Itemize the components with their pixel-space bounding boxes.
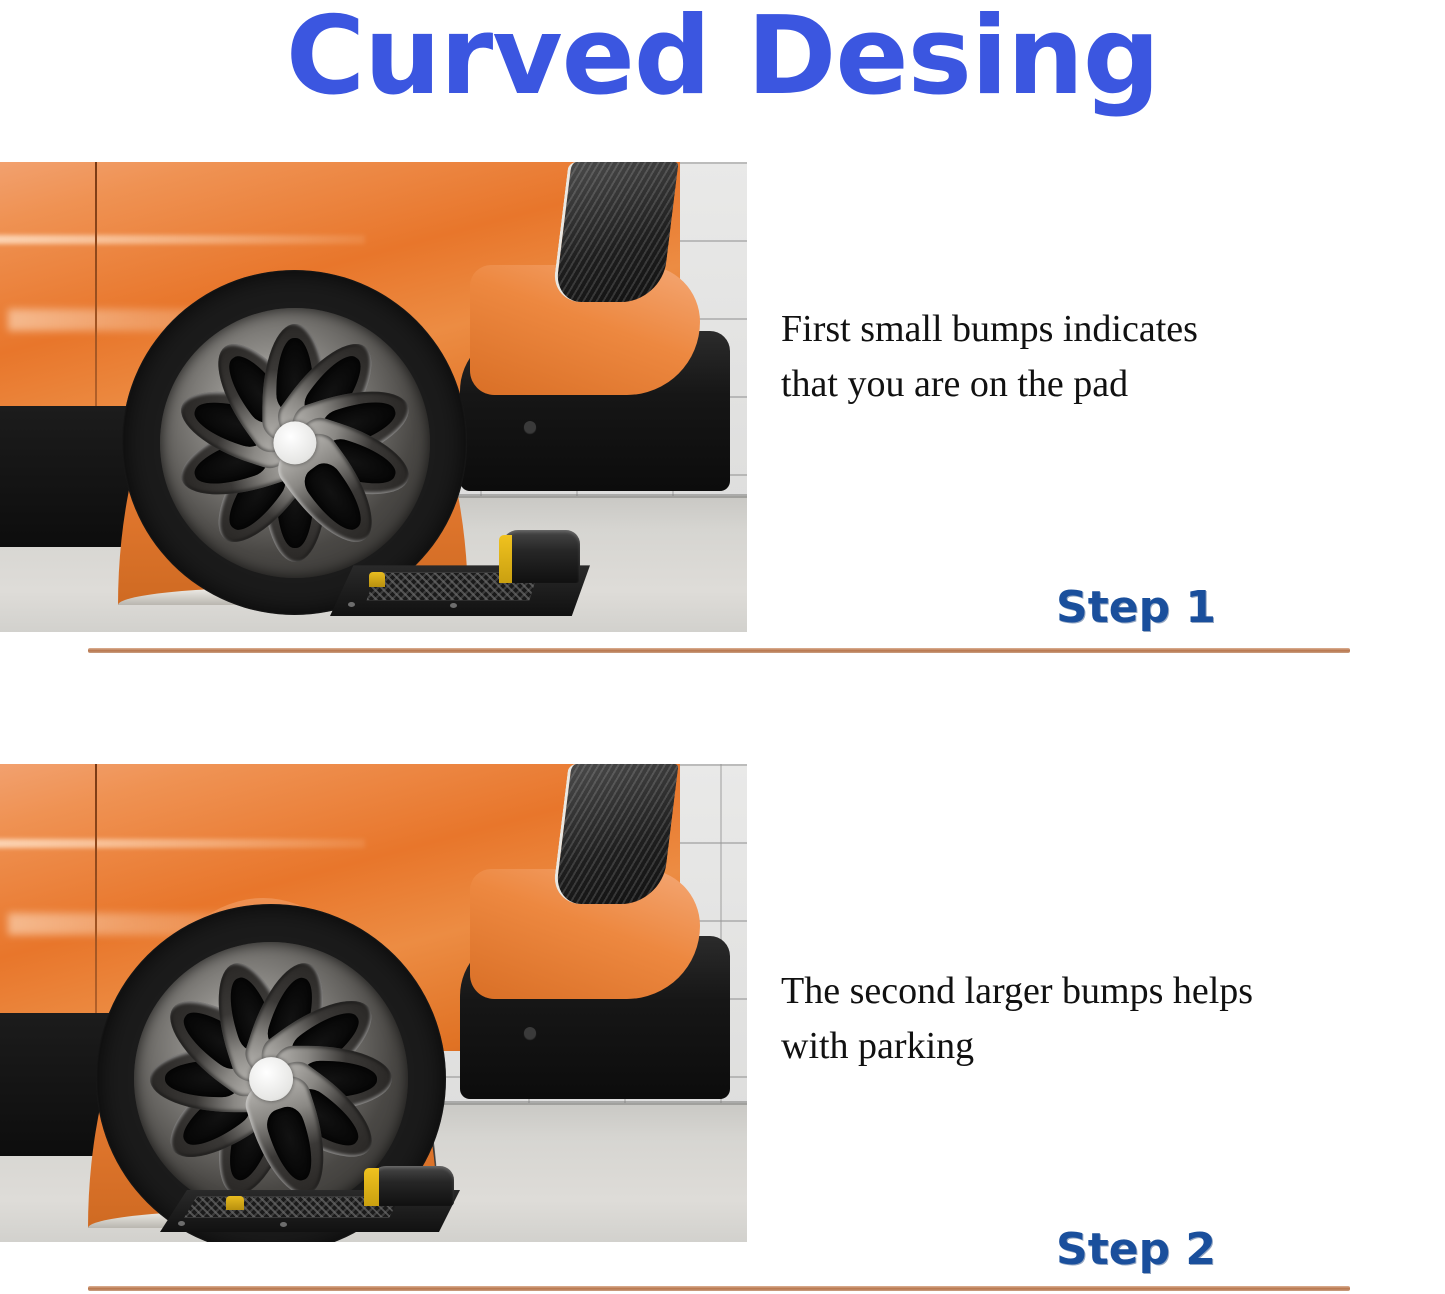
step-2-description: The second larger bumps helps with parki… xyxy=(781,964,1441,1074)
page-title: Curved Desing xyxy=(0,0,1445,122)
car-panel-gap xyxy=(95,764,97,1036)
parking-pad-step-1 xyxy=(330,506,590,616)
photo-step-2 xyxy=(0,764,747,1242)
step-1-description: First small bumps indicates that you are… xyxy=(781,302,1441,412)
photo-step-1 xyxy=(0,162,747,632)
step-2-description-line-1: The second larger bumps helps xyxy=(781,970,1253,1012)
step-block-2: The second larger bumps helps with parki… xyxy=(0,764,1445,1294)
step-1-label: Step 1 xyxy=(781,582,1441,633)
step-1-description-line-2: that you are on the pad xyxy=(781,357,1441,412)
section-divider-1 xyxy=(88,648,1350,653)
step-block-1: First small bumps indicates that you are… xyxy=(0,162,1445,662)
car-panel-gap xyxy=(95,162,97,430)
text-column-step-2: The second larger bumps helps with parki… xyxy=(781,964,1441,1275)
bumper-sensor-icon xyxy=(524,1027,536,1039)
text-column-step-1: First small bumps indicates that you are… xyxy=(781,302,1441,633)
section-divider-2 xyxy=(88,1286,1350,1291)
step-2-label: Step 2 xyxy=(781,1224,1441,1275)
wheel-center-cap xyxy=(249,1057,293,1101)
bumper-sensor-icon xyxy=(524,421,536,433)
step-1-description-line-1: First small bumps indicates xyxy=(781,308,1198,350)
parking-pad-step-2 xyxy=(160,1132,460,1232)
step-2-description-line-2: with parking xyxy=(781,1019,1441,1074)
